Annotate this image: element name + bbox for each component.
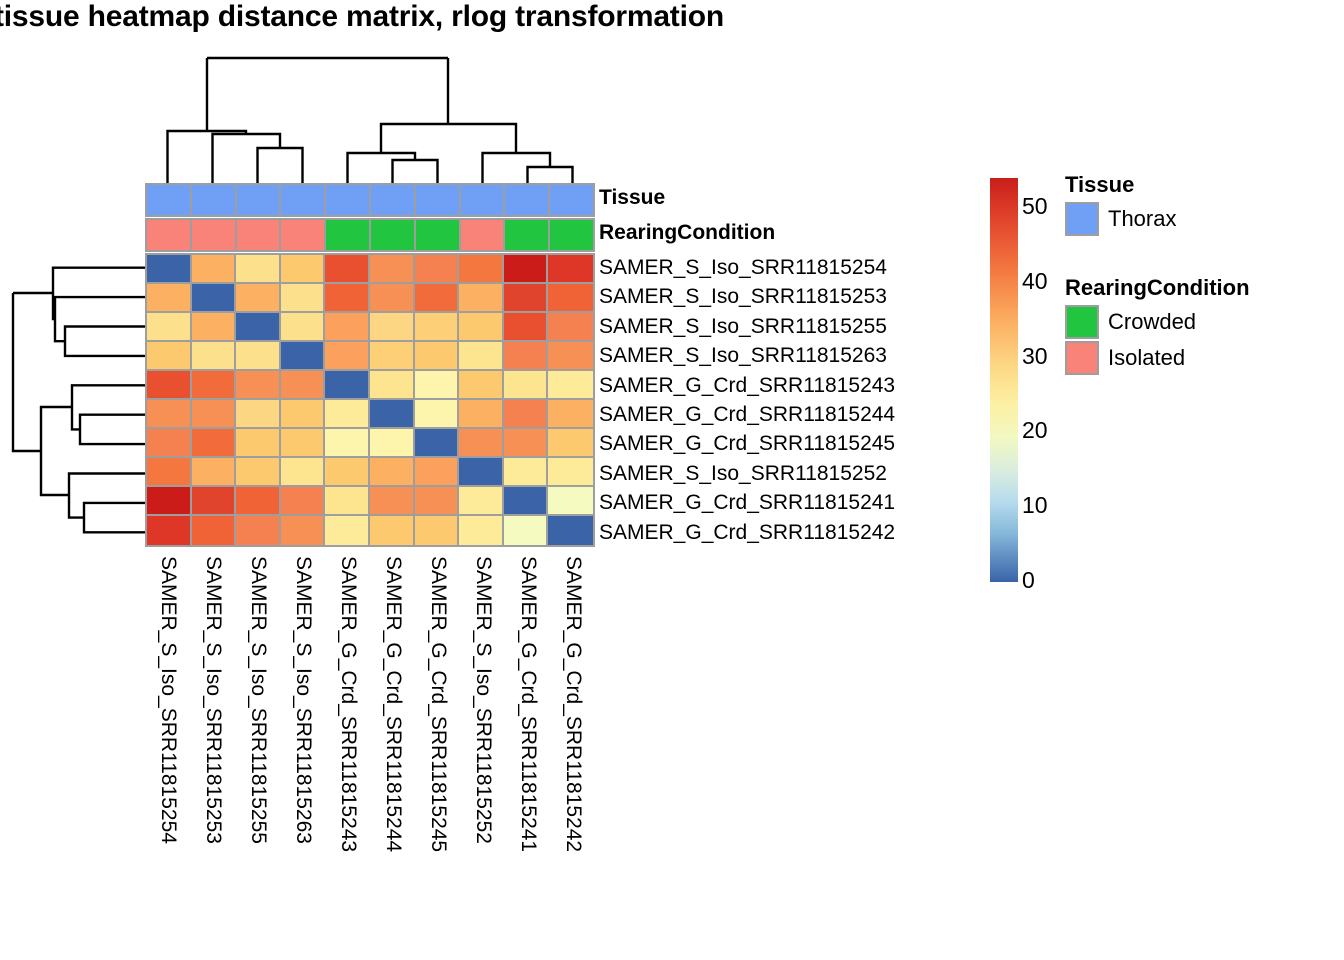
colorbar xyxy=(990,178,1018,582)
colorbar-gradient xyxy=(990,178,1018,582)
row-label: SAMER_G_Crd_SRR11815243 xyxy=(599,371,895,400)
rearing-cell xyxy=(326,220,371,250)
column-label-slot: SAMER_G_Crd_SRR11815244 xyxy=(370,552,415,952)
legend-swatch-icon xyxy=(1065,341,1099,375)
heatmap-cell xyxy=(370,255,415,284)
heatmap-cell xyxy=(236,255,281,284)
column-label-slot: SAMER_S_Iso_SRR11815254 xyxy=(145,552,190,952)
heatmap-cell xyxy=(281,516,326,545)
heatmap-cell xyxy=(147,487,192,516)
tissue-cell xyxy=(147,185,192,215)
legend-title: RearingCondition xyxy=(1065,275,1250,301)
row-dendrogram xyxy=(8,253,145,547)
heatmap-cell xyxy=(192,342,237,371)
rearing-cell xyxy=(461,220,506,250)
heatmap-cell xyxy=(459,429,504,458)
heatmap-cell xyxy=(504,342,549,371)
heatmap-cell xyxy=(147,284,192,313)
heatmap-cell xyxy=(236,313,281,342)
row-label: SAMER_G_Crd_SRR11815241 xyxy=(599,488,895,517)
heatmap-cell xyxy=(236,458,281,487)
column-labels: SAMER_S_Iso_SRR11815254SAMER_S_Iso_SRR11… xyxy=(145,552,595,952)
heatmap-cell xyxy=(415,342,460,371)
colorbar-tick-label: 50 xyxy=(1022,193,1048,220)
heatmap-cell xyxy=(370,400,415,429)
column-dendrogram xyxy=(145,48,595,183)
heatmap-cell xyxy=(192,487,237,516)
column-label: SAMER_G_Crd_SRR11815242 xyxy=(561,556,585,852)
heatmap-cell xyxy=(415,371,460,400)
heatmap-cell xyxy=(147,255,192,284)
column-label-slot: SAMER_G_Crd_SRR11815245 xyxy=(415,552,460,952)
heatmap-cell xyxy=(370,284,415,313)
legend-swatch-icon xyxy=(1065,305,1099,339)
heatmap-cell xyxy=(147,342,192,371)
rearing-cell xyxy=(192,220,237,250)
legend-swatch-icon xyxy=(1065,202,1099,236)
colorbar-tick-label: 30 xyxy=(1022,343,1048,370)
heatmap-cell xyxy=(548,487,593,516)
rearing-cell xyxy=(505,220,550,250)
heatmap-cell xyxy=(281,284,326,313)
heatmap-cell xyxy=(192,516,237,545)
heatmap-cell xyxy=(415,458,460,487)
tissue-cell xyxy=(461,185,506,215)
heatmap-cell xyxy=(504,487,549,516)
heatmap-cell xyxy=(415,429,460,458)
rearing-cell xyxy=(147,220,192,250)
heatmap-cell xyxy=(147,371,192,400)
tissue-annotation-label: Tissue xyxy=(599,186,665,210)
heatmap-cell xyxy=(504,371,549,400)
colorbar-tick-label: 20 xyxy=(1022,417,1048,444)
column-label: SAMER_S_Iso_SRR11815263 xyxy=(291,556,315,844)
heatmap-cell xyxy=(236,284,281,313)
column-label: SAMER_S_Iso_SRR11815255 xyxy=(246,556,270,844)
heatmap-cell xyxy=(548,371,593,400)
heatmap-cell xyxy=(504,458,549,487)
column-label: SAMER_G_Crd_SRR11815245 xyxy=(426,556,450,852)
heatmap-cell xyxy=(415,255,460,284)
heatmap-cell xyxy=(548,400,593,429)
row-label: SAMER_S_Iso_SRR11815252 xyxy=(599,459,895,488)
row-label: SAMER_S_Iso_SRR11815254 xyxy=(599,253,895,282)
heatmap-cell xyxy=(370,429,415,458)
tissue-cell xyxy=(326,185,371,215)
heatmap-cell xyxy=(370,342,415,371)
heatmap-cell xyxy=(370,487,415,516)
row-label: SAMER_S_Iso_SRR11815255 xyxy=(599,312,895,341)
row-label: SAMER_G_Crd_SRR11815244 xyxy=(599,400,895,429)
heatmap-cell xyxy=(236,371,281,400)
heatmap-cell xyxy=(459,284,504,313)
heatmap-cell xyxy=(504,400,549,429)
heatmap-cell xyxy=(325,458,370,487)
heatmap-cell xyxy=(192,313,237,342)
heatmap-cell xyxy=(281,371,326,400)
heatmap-cell xyxy=(548,458,593,487)
heatmap-cell xyxy=(415,400,460,429)
heatmap-cell xyxy=(548,516,593,545)
heatmap-cell xyxy=(281,400,326,429)
heatmap-cell xyxy=(147,313,192,342)
rearing-cell xyxy=(237,220,282,250)
heatmap-cell xyxy=(548,342,593,371)
heatmap-cell xyxy=(415,284,460,313)
heatmap-cell xyxy=(370,313,415,342)
legend-tissue: TissueThorax xyxy=(1065,172,1176,237)
colorbar-tick-label: 0 xyxy=(1022,567,1035,594)
heatmap-cell xyxy=(415,313,460,342)
rearing-cell xyxy=(281,220,326,250)
heatmap-cell xyxy=(504,429,549,458)
tissue-cell xyxy=(505,185,550,215)
heatmap-cell xyxy=(281,342,326,371)
heatmap-cell xyxy=(236,342,281,371)
column-label: SAMER_G_Crd_SRR11815241 xyxy=(516,556,540,852)
heatmap-cell xyxy=(459,342,504,371)
column-label: SAMER_G_Crd_SRR11815243 xyxy=(336,556,360,852)
legend-item[interactable]: Thorax xyxy=(1065,201,1176,237)
heatmap-cell xyxy=(236,429,281,458)
heatmap-cell xyxy=(236,487,281,516)
page-title: tissue heatmap distance matrix, rlog tra… xyxy=(0,0,724,34)
rearing-cell xyxy=(416,220,461,250)
tissue-cell xyxy=(371,185,416,215)
column-label-slot: SAMER_S_Iso_SRR11815255 xyxy=(235,552,280,952)
tissue-cell xyxy=(550,185,593,215)
row-labels: SAMER_S_Iso_SRR11815254SAMER_S_Iso_SRR11… xyxy=(599,253,895,547)
heatmap-cell xyxy=(281,429,326,458)
tissue-annotation-bar xyxy=(145,183,595,217)
heatmap-cell xyxy=(325,255,370,284)
tissue-cell xyxy=(237,185,282,215)
row-label: SAMER_S_Iso_SRR11815263 xyxy=(599,341,895,370)
heatmap-cell xyxy=(325,400,370,429)
heatmap-cell xyxy=(459,255,504,284)
heatmap-cell xyxy=(281,458,326,487)
heatmap-cell xyxy=(504,255,549,284)
heatmap-cell xyxy=(325,313,370,342)
rearing-annotation-label: RearingCondition xyxy=(599,221,775,245)
legend-item[interactable]: Crowded xyxy=(1065,304,1250,340)
heatmap-cell xyxy=(281,313,326,342)
colorbar-tick-label: 40 xyxy=(1022,268,1048,295)
heatmap-cell xyxy=(459,516,504,545)
rearing-cell xyxy=(550,220,593,250)
heatmap-cell xyxy=(192,255,237,284)
heatmap-cell xyxy=(504,313,549,342)
heatmap-cell xyxy=(325,284,370,313)
heatmap-figure: tissue heatmap distance matrix, rlog tra… xyxy=(0,0,1344,960)
heatmap-cell xyxy=(192,429,237,458)
heatmap-cell xyxy=(192,400,237,429)
column-label: SAMER_S_Iso_SRR11815253 xyxy=(201,556,225,844)
column-label-slot: SAMER_S_Iso_SRR11815253 xyxy=(190,552,235,952)
column-label-slot: SAMER_G_Crd_SRR11815243 xyxy=(325,552,370,952)
column-label-slot: SAMER_S_Iso_SRR11815252 xyxy=(460,552,505,952)
heatmap-cell xyxy=(370,371,415,400)
heatmap-cell xyxy=(548,284,593,313)
heatmap-cell xyxy=(192,284,237,313)
heatmap-cell xyxy=(504,516,549,545)
heatmap-cell xyxy=(325,429,370,458)
tissue-cell xyxy=(192,185,237,215)
heatmap-cell xyxy=(415,487,460,516)
heatmap-cell xyxy=(192,458,237,487)
row-label: SAMER_S_Iso_SRR11815253 xyxy=(599,282,895,311)
column-label: SAMER_S_Iso_SRR11815254 xyxy=(156,556,180,844)
row-label: SAMER_G_Crd_SRR11815242 xyxy=(599,518,895,547)
heatmap-cell xyxy=(325,516,370,545)
heatmap-cell xyxy=(548,313,593,342)
heatmap-cell xyxy=(370,458,415,487)
legend-item-label: Thorax xyxy=(1108,206,1176,232)
column-label: SAMER_G_Crd_SRR11815244 xyxy=(381,556,405,852)
heatmap-cell xyxy=(370,516,415,545)
heatmap-cell xyxy=(236,516,281,545)
heatmap-cell xyxy=(459,371,504,400)
legend-rearing: RearingConditionCrowdedIsolated xyxy=(1065,275,1250,376)
heatmap-cell xyxy=(325,342,370,371)
column-label-slot: SAMER_G_Crd_SRR11815241 xyxy=(505,552,550,952)
heatmap-cell xyxy=(281,487,326,516)
row-label: SAMER_G_Crd_SRR11815245 xyxy=(599,429,895,458)
heatmap-cell xyxy=(236,400,281,429)
heatmap-cell xyxy=(548,255,593,284)
heatmap-cell xyxy=(192,371,237,400)
heatmap-cell xyxy=(325,371,370,400)
rearing-cell xyxy=(371,220,416,250)
heatmap-cell xyxy=(147,458,192,487)
rearing-annotation-bar xyxy=(145,218,595,252)
legend-title: Tissue xyxy=(1065,172,1176,198)
heatmap-grid xyxy=(145,253,595,547)
legend-item-label: Isolated xyxy=(1108,345,1185,371)
colorbar-tick-label: 10 xyxy=(1022,492,1048,519)
heatmap-cell xyxy=(459,313,504,342)
colorbar-ticks: 50403020100 xyxy=(1022,178,1082,582)
heatmap-cell xyxy=(147,516,192,545)
heatmap-cell xyxy=(548,429,593,458)
heatmap-cell xyxy=(459,458,504,487)
heatmap-cell xyxy=(325,487,370,516)
tissue-cell xyxy=(281,185,326,215)
heatmap-cell xyxy=(281,255,326,284)
heatmap-cell xyxy=(147,429,192,458)
heatmap-cell xyxy=(459,400,504,429)
heatmap-cell xyxy=(147,400,192,429)
column-label-slot: SAMER_S_Iso_SRR11815263 xyxy=(280,552,325,952)
column-label-slot: SAMER_G_Crd_SRR11815242 xyxy=(550,552,595,952)
tissue-cell xyxy=(416,185,461,215)
heatmap-cell xyxy=(459,487,504,516)
heatmap-cell xyxy=(415,516,460,545)
column-label: SAMER_S_Iso_SRR11815252 xyxy=(471,556,495,844)
heatmap-cell xyxy=(504,284,549,313)
legend-item[interactable]: Isolated xyxy=(1065,340,1250,376)
legend-item-label: Crowded xyxy=(1108,309,1196,335)
